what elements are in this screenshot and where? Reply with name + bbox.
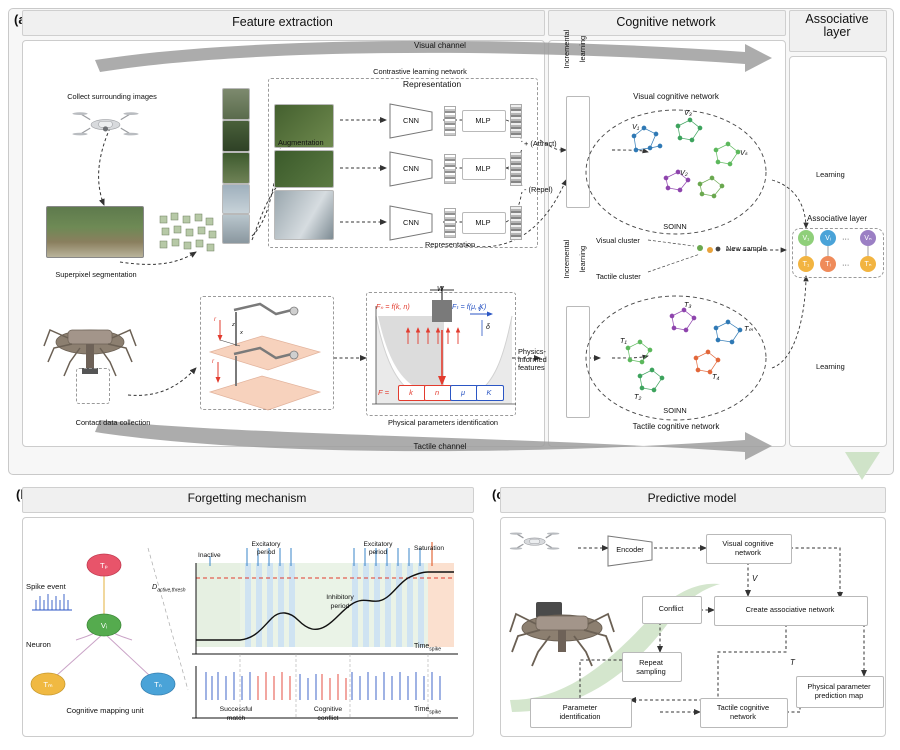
visual-cognitive-network-label: Visual cognitivenetwork bbox=[706, 539, 790, 557]
panel-c-drone-icon bbox=[0, 0, 900, 750]
tactile-cognitive-network-label: Tactile cognitivenetwork bbox=[700, 703, 786, 721]
physical-parameter-map-label: Physical parameterprediction map bbox=[796, 682, 882, 700]
create-associative-label: Create associative network bbox=[714, 605, 866, 614]
parameter-identification-label: Parameteridentification bbox=[530, 703, 630, 721]
conflict-label: Conflict bbox=[642, 604, 700, 613]
repeat-sampling-label: Repeatsampling bbox=[622, 658, 680, 676]
signal-v-label: V bbox=[752, 574, 757, 583]
signal-t-label: T bbox=[790, 658, 795, 667]
